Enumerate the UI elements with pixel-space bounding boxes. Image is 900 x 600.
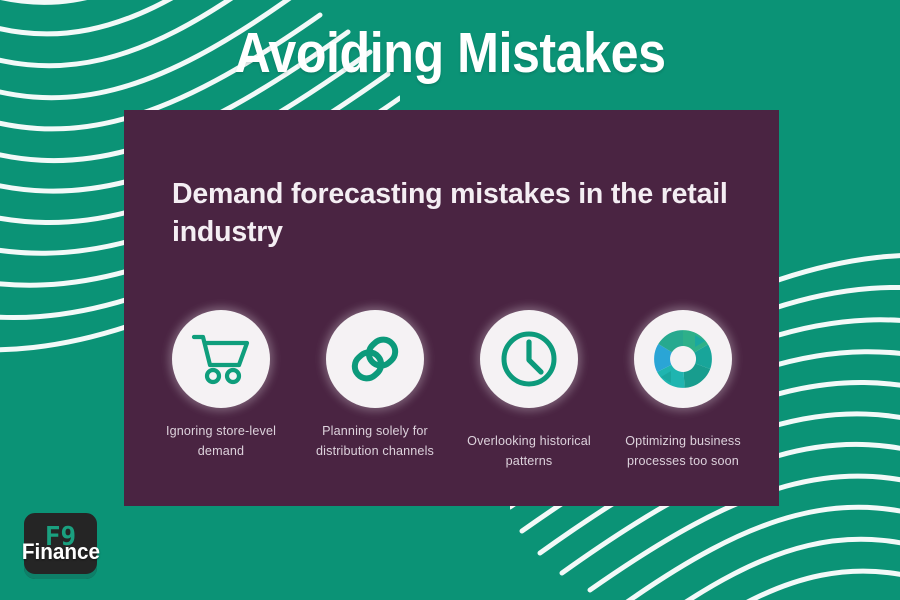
mistake-label-4: Optimizing business processes too soon xyxy=(608,432,758,471)
cycle-arrows-icon xyxy=(651,327,715,391)
mistake-label-2: Planning solely for distribution channel… xyxy=(300,422,450,461)
f9-finance-logo[interactable]: F9 Finance xyxy=(22,511,99,581)
mistakes-icon-row: Ignoring store-level demand Planning sol… xyxy=(146,310,758,471)
icon-circle-3 xyxy=(480,310,578,408)
poster-title: Avoiding Mistakes xyxy=(54,24,846,84)
clock-icon xyxy=(498,328,560,390)
shopping-cart-icon xyxy=(191,331,251,387)
mistake-item-3[interactable]: Overlooking historical patterns xyxy=(454,310,604,471)
poster-canvas: Avoiding Mistakes Demand forecasting mis… xyxy=(0,0,900,600)
mistake-item-4[interactable]: Optimizing business processes too soon xyxy=(608,310,758,471)
logo-finance-text: Finance xyxy=(20,539,103,565)
content-card: Demand forecasting mistakes in the retai… xyxy=(124,110,779,506)
mistake-item-1[interactable]: Ignoring store-level demand xyxy=(146,310,296,461)
chain-link-icon xyxy=(346,330,404,388)
mistake-item-2[interactable]: Planning solely for distribution channel… xyxy=(300,310,450,461)
icon-circle-4 xyxy=(634,310,732,408)
icon-circle-2 xyxy=(326,310,424,408)
card-heading: Demand forecasting mistakes in the retai… xyxy=(172,176,752,252)
mistake-label-3: Overlooking historical patterns xyxy=(454,432,604,471)
mistake-label-1: Ignoring store-level demand xyxy=(146,422,296,461)
icon-circle-1 xyxy=(172,310,270,408)
